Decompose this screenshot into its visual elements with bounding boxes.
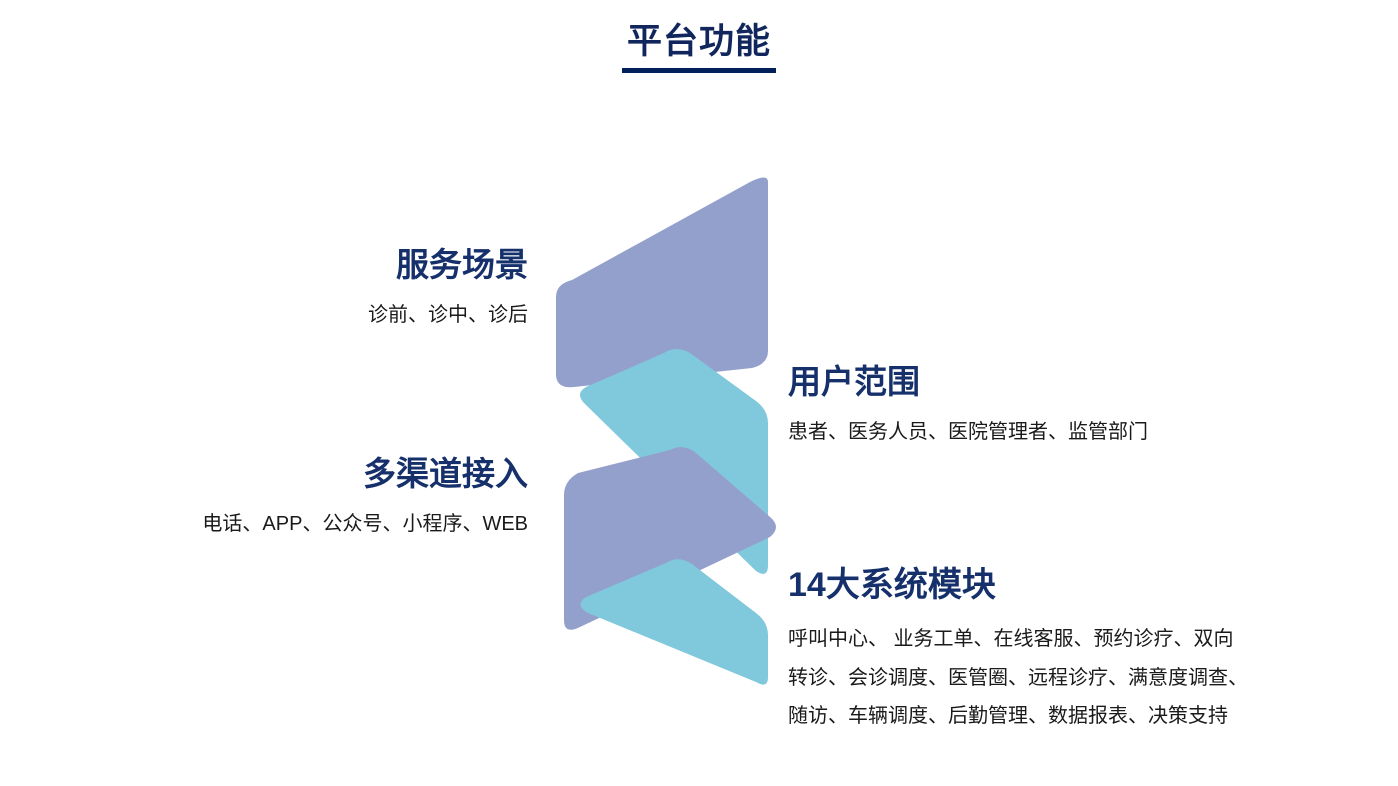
callout-system-modules-heading: 14大系统模块 xyxy=(788,565,1348,605)
title-underline-rule xyxy=(622,68,776,73)
callout-system-modules-body-line-3: 随访、车辆调度、后勤管理、数据报表、决策支持 xyxy=(788,697,1348,735)
page-title-block: 平台功能 xyxy=(0,22,1398,73)
callout-system-modules: 14大系统模块 呼叫中心、 业务工单、在线客服、预约诊疗、双向 转诊、会诊调度、… xyxy=(788,565,1348,735)
callout-multi-channel-access-body: 电话、APP、公众号、小程序、WEB xyxy=(100,507,528,543)
callout-multi-channel-access: 多渠道接入 电话、APP、公众号、小程序、WEB xyxy=(100,455,528,543)
callout-user-scope-body: 患者、医务人员、医院管理者、监管部门 xyxy=(788,415,1348,451)
callout-service-scenario: 服务场景 诊前、诊中、诊后 xyxy=(100,246,528,334)
callout-system-modules-body-line-1: 呼叫中心、 业务工单、在线客服、预约诊疗、双向 xyxy=(788,620,1348,658)
callout-system-modules-body-line-2: 转诊、会诊调度、医管圈、远程诊疗、满意度调查、 xyxy=(788,659,1348,697)
callout-service-scenario-body: 诊前、诊中、诊后 xyxy=(100,298,528,334)
callout-user-scope: 用户范围 患者、医务人员、医院管理者、监管部门 xyxy=(788,363,1348,451)
slide-canvas: 平台功能 服务场景 诊前、诊中、诊后 多渠道接入 电话、APP、公众号、小程序、… xyxy=(0,0,1398,786)
callout-service-scenario-heading: 服务场景 xyxy=(100,246,528,285)
page-title: 平台功能 xyxy=(627,22,771,62)
callout-multi-channel-access-heading: 多渠道接入 xyxy=(100,455,528,494)
zigzag-ribbon-graphic xyxy=(540,165,800,685)
ribbon-svg xyxy=(540,165,800,685)
callout-system-modules-body: 呼叫中心、 业务工单、在线客服、预约诊疗、双向 转诊、会诊调度、医管圈、远程诊疗… xyxy=(788,620,1348,735)
callout-user-scope-heading: 用户范围 xyxy=(788,363,1348,402)
